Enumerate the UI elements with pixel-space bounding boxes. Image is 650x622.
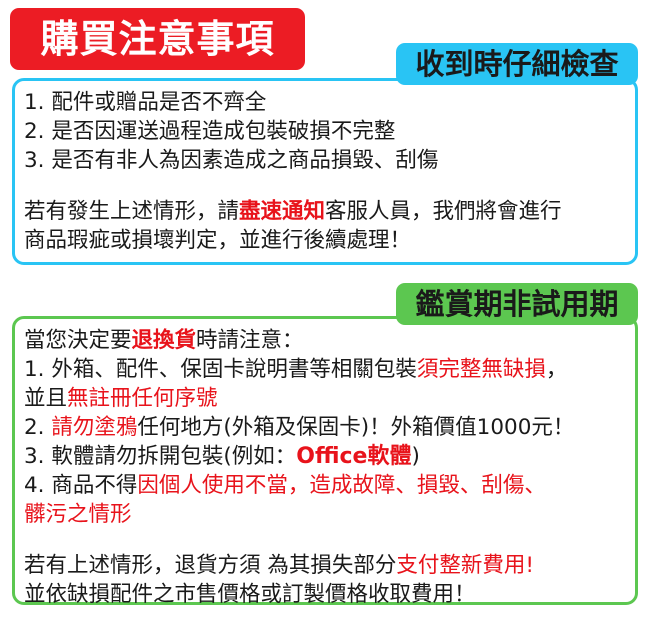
list-item: 2. 請勿塗鴉任何地方(外箱及保固卡)！外箱價值1000元！ [24,413,574,442]
section-body-inspect-on-arrival: 1. 配件或贈品是否不齊全 2. 是否因運送過程造成包裝破損不完整 3. 是否有… [24,88,562,255]
note-line: 並依缺損配件之市售價格或訂製價格收取費用！ [24,580,574,609]
list-item: 1. 配件或贈品是否不齊全 [24,88,562,117]
list-item-emphasis: 因個人使用不當，造成故障、損毀、刮傷、 [137,473,546,498]
note-text-pre: 若有上述情形，退貨方須 為其損失部分 [24,553,396,578]
note-text-post: 客服人員，我們將會進行 [325,199,562,224]
main-banner-label: 購買注意事項 [40,20,274,58]
main-banner: 購買注意事項 [10,8,305,70]
list-item-text-pre: 1. 外箱、配件、保固卡說明書等相關包裝 [24,357,417,382]
list-item-wrap-emphasis: 無註冊任何序號 [67,386,218,411]
list-item-wrap-emphasis: 髒污之情形 [24,502,132,527]
list-item-wrap: 髒污之情形 [24,500,574,529]
list-item: 3. 是否有非人為因素造成之商品損毀、刮傷 [24,146,562,175]
intro-text-pre: 當您決定要 [24,328,132,353]
section-tab-trial-period-policy: 鑑賞期非試用期 [396,283,638,325]
list-item-text-post: ， [546,357,568,382]
section-tab-label: 收到時仔細檢查 [415,50,618,79]
list-item-text-post: ) [411,444,419,469]
section-body-trial-period-policy: 當您決定要退換貨時請注意： 1. 外箱、配件、保固卡說明書等相關包裝須完整無缺損… [24,326,574,609]
list-item-emphasis: 請勿塗鴉 [51,415,137,440]
note-line: 若有發生上述情形，請盡速通知客服人員，我們將會進行 [24,197,562,226]
note-line: 商品瑕疵或損壞判定，並進行後續處理！ [24,226,562,255]
list-item-wrap-pre: 並且 [24,386,67,411]
list-item-wrap: 並且無註冊任何序號 [24,384,574,413]
note-text-pre: 若有發生上述情形，請 [24,199,239,224]
list-item: 3. 軟體請勿拆開包裝(例如：Office軟體) [24,442,574,471]
note-emphasis: 支付整新費用! [396,553,534,578]
list-item: 1. 外箱、配件、保固卡說明書等相關包裝須完整無缺損， [24,355,574,384]
purchase-notice-page: 購買注意事項 收到時仔細檢查 1. 配件或贈品是否不齊全 2. 是否因運送過程造… [0,0,650,622]
list-item-text-pre: 4. 商品不得 [24,473,137,498]
list-item: 4. 商品不得因個人使用不當，造成故障、損毀、刮傷、 [24,471,574,500]
note-line: 若有上述情形，退貨方須 為其損失部分支付整新費用! [24,551,574,580]
list-item: 2. 是否因運送過程造成包裝破損不完整 [24,117,562,146]
spacer [24,175,562,197]
list-item-text-pre: 3. 軟體請勿拆開包裝(例如： [24,444,296,469]
intro-text-post: 時請注意： [196,328,304,353]
list-item-text-post: 任何地方(外箱及保固卡)！外箱價值1000元！ [137,415,574,440]
intro-emphasis: 退換貨 [132,328,197,353]
list-item-index: 2. [24,415,51,440]
list-item-emphasis: 須完整無缺損 [417,357,546,382]
list-item-emphasis: Office軟體 [296,444,411,469]
spacer [24,529,574,551]
section-tab-inspect-on-arrival: 收到時仔細檢查 [396,43,638,85]
note-emphasis: 盡速通知 [239,199,325,224]
intro-line: 當您決定要退換貨時請注意： [24,326,574,355]
section-tab-label: 鑑賞期非試用期 [415,290,618,319]
